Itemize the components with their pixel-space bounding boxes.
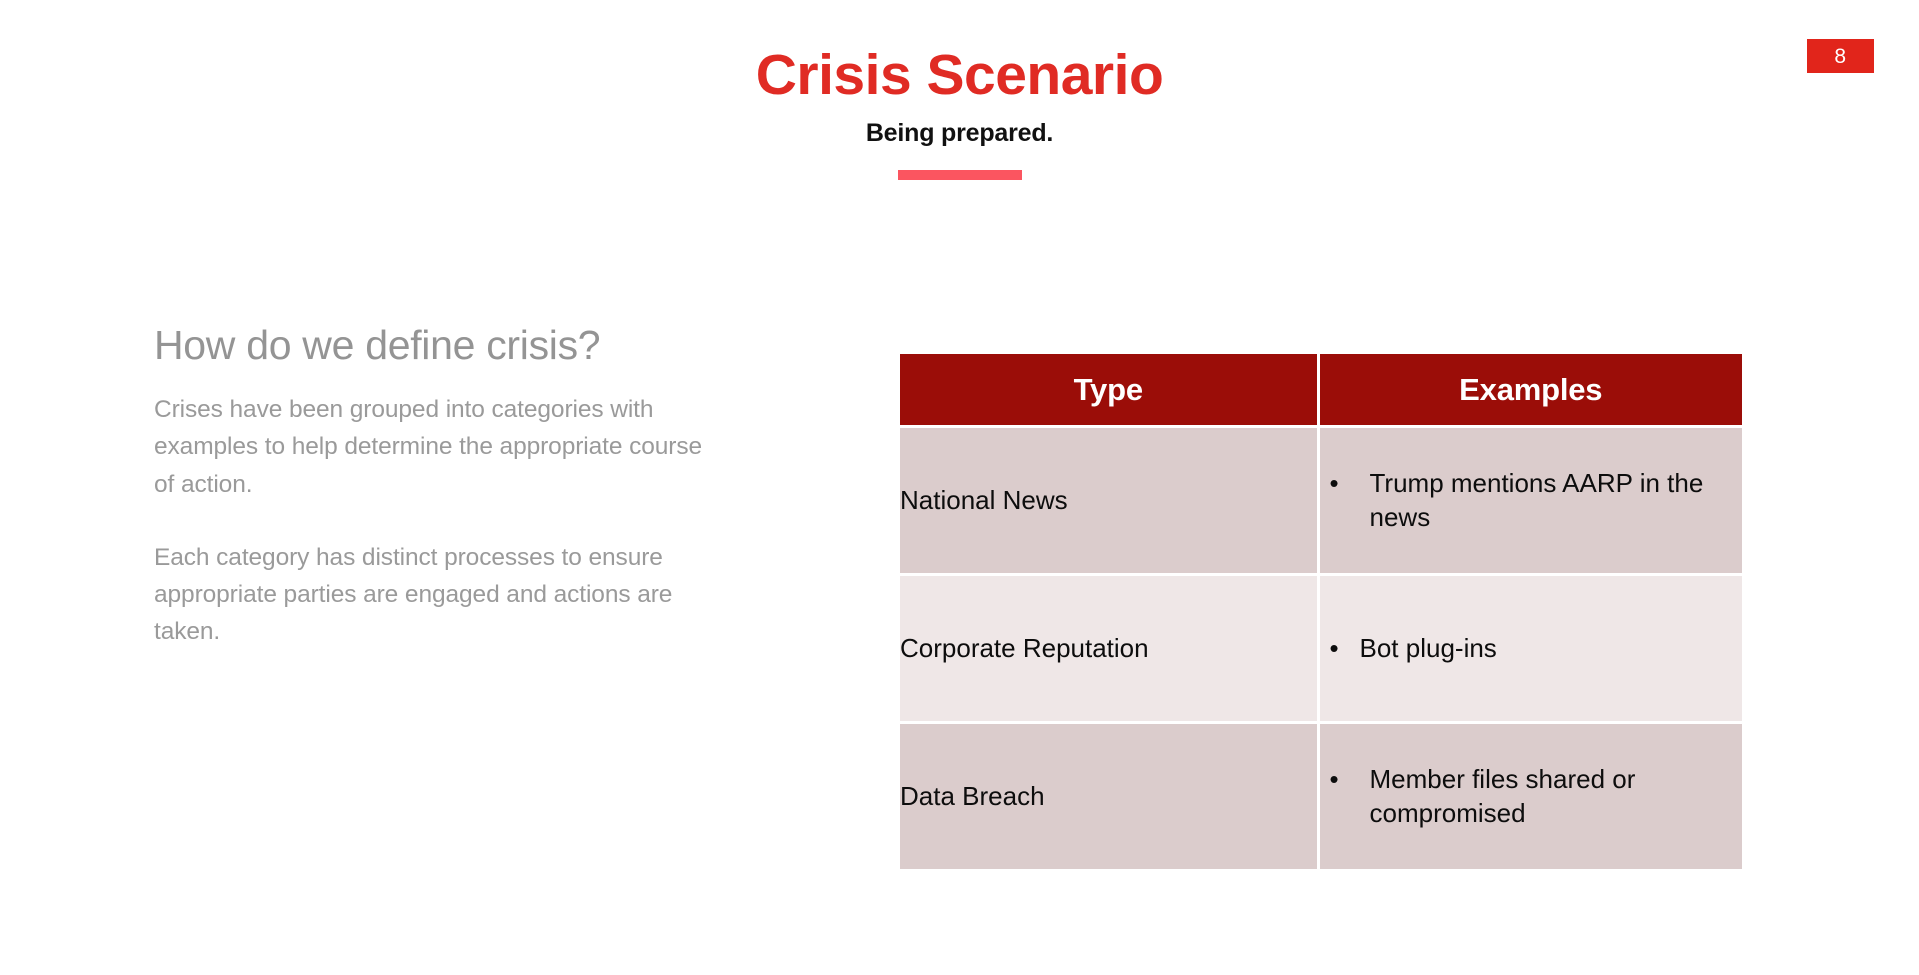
table-row: Corporate Reputation • Bot plug-ins <box>900 575 1742 723</box>
bullet-dot-icon: • <box>1330 763 1370 796</box>
cell-examples: • Member files shared or compromised <box>1318 723 1742 870</box>
bullet-text: Member files shared or compromised <box>1370 763 1729 830</box>
title-accent-bar <box>898 170 1022 180</box>
page-title: Crisis Scenario <box>0 46 1919 106</box>
cell-type: Corporate Reputation <box>900 575 1318 723</box>
bullet-item: • Member files shared or compromised <box>1320 763 1743 830</box>
intro-paragraph-1: Crises have been grouped into categories… <box>154 391 714 503</box>
crisis-categories-table: Type Examples National News • Trump ment… <box>900 354 1742 869</box>
table-row: National News • Trump mentions AARP in t… <box>900 427 1742 575</box>
bullet-dot-icon: • <box>1330 632 1360 665</box>
table-row: Data Breach • Member files shared or com… <box>900 723 1742 870</box>
bullet-item: • Bot plug-ins <box>1320 632 1743 665</box>
column-header-examples: Examples <box>1318 354 1742 427</box>
cell-type: National News <box>900 427 1318 575</box>
bullet-text: Trump mentions AARP in the news <box>1370 467 1729 534</box>
table-header-row: Type Examples <box>900 354 1742 427</box>
cell-examples: • Trump mentions AARP in the news <box>1318 427 1742 575</box>
bullet-dot-icon: • <box>1330 467 1370 500</box>
page-subtitle: Being prepared. <box>0 120 1919 148</box>
column-header-type: Type <box>900 354 1318 427</box>
intro-paragraph-2: Each category has distinct processes to … <box>154 539 714 651</box>
cell-examples: • Bot plug-ins <box>1318 575 1742 723</box>
bullet-item: • Trump mentions AARP in the news <box>1320 467 1743 534</box>
intro-text-column: How do we define crisis? Crises have bee… <box>154 322 714 651</box>
intro-heading: How do we define crisis? <box>154 322 714 369</box>
bullet-text: Bot plug-ins <box>1360 632 1729 665</box>
slide-title-block: Crisis Scenario Being prepared. <box>0 46 1919 180</box>
cell-type: Data Breach <box>900 723 1318 870</box>
